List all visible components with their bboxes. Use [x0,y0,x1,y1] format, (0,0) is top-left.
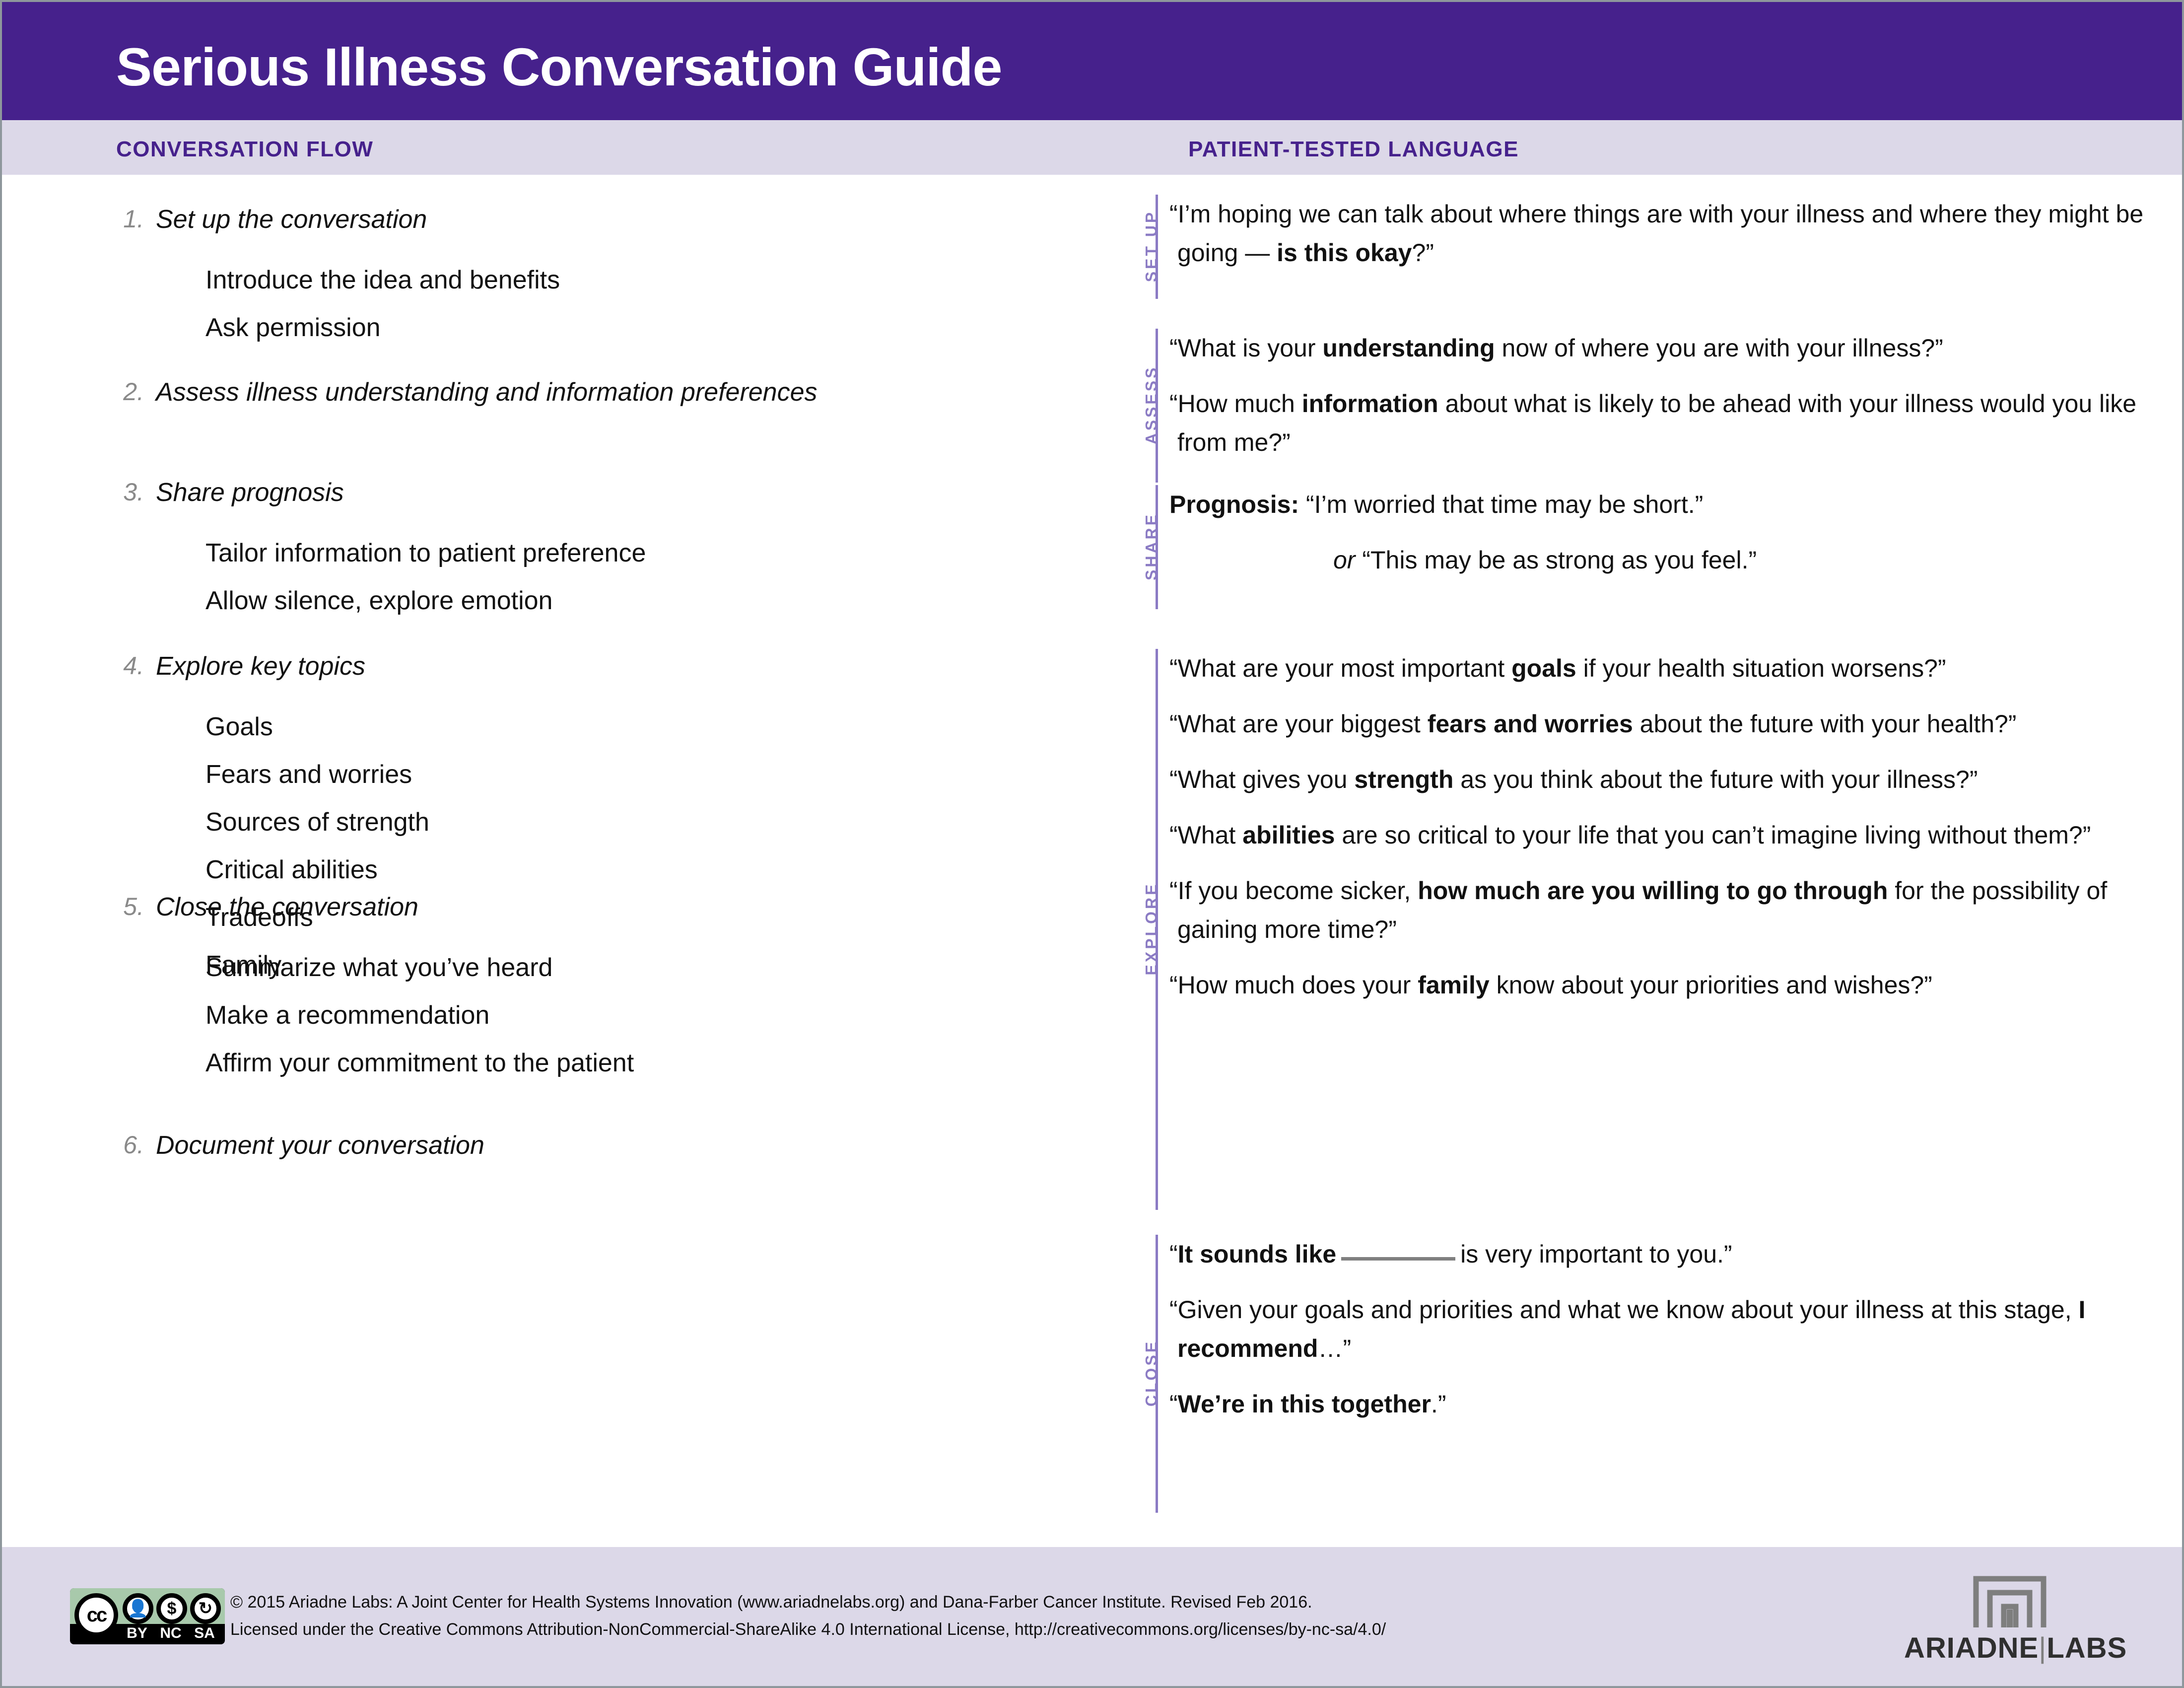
quote-text: ?” [1412,239,1433,267]
quote-text: now of where you are with your illness?” [1495,334,1943,362]
quote-emphasis: fears and worries [1428,710,1633,738]
flow-substep: Summarize what you’ve heard [205,944,634,991]
quote-emphasis: We’re in this together [1178,1390,1431,1418]
group-quotes: Prognosis: “I’m worried that time may be… [1177,485,2156,596]
quote-text: as you think about the future with your … [1453,766,1978,793]
quote-text: are so critical to your life that you ca… [1335,821,2091,849]
quote-emphasis: family [1418,971,1490,999]
language-group: ASSESS“What is your understanding now of… [1114,329,2156,483]
quote-text: “How much does your [1169,971,1418,999]
flow-step-number: 5. [110,892,144,921]
quote-text: “This may be as strong as you feel.” [1355,546,1757,574]
flow-step-title: Set up the conversation [156,205,427,234]
quote-text: “What gives you [1169,766,1354,793]
patient-quote: “We’re in this together.” [1177,1385,2156,1423]
quote-text: know about your priorities and wishes?” [1490,971,1932,999]
cc-abbr-sa: SA [187,1625,222,1642]
flow-substep: Affirm your commitment to the patient [205,1039,634,1087]
flow-step-title: Share prognosis [156,478,344,507]
brand-wordmark: ARIADNE|LABS [1904,1631,2113,1665]
patient-quote: “It sounds likeis very important to you.… [1177,1235,2156,1273]
footer: cc 👤 $ ↻ BY NC SA © 2015 Ariadne Labs: A… [2,1547,2182,1686]
group-side-label: SHARE [1143,497,1161,596]
page-title: Serious Illness Conversation Guide [116,36,1002,98]
column-header-bar: CONVERSATION FLOW PATIENT-TESTED LANGUAG… [2,120,2182,175]
no-money-icon: $ [161,1598,183,1619]
quote-emphasis: how much are you willing to go through [1418,877,1888,905]
quote-emphasis: is this okay [1277,239,1412,267]
quote-text: “How much [1169,390,1302,418]
labyrinth-icon [1970,1573,2049,1627]
conversation-guide-page: Serious Illness Conversation Guide CONVE… [0,0,2184,1688]
flow-step-substeps: Summarize what you’ve heardMake a recomm… [205,944,634,1087]
flow-substep: Fears and worries [205,751,429,798]
flow-substep: Goals [205,703,429,751]
flow-step-number: 1. [110,205,144,233]
column-header-conversation-flow: CONVERSATION FLOW [116,137,373,162]
quote-emphasis: goals [1511,654,1576,682]
quote-text: “I’m worried that time may be short.” [1299,491,1703,518]
group-side-label: SET UP [1143,197,1161,296]
person-icon: 👤 [127,1598,149,1619]
quote-emphasis: understanding [1322,334,1495,362]
quote-text: “ [1169,1240,1178,1268]
quote-emphasis: abilities [1242,821,1335,849]
license-text: © 2015 Ariadne Labs: A Joint Center for … [230,1589,1570,1643]
ariadne-labs-logo: ARIADNE|LABS [1904,1573,2113,1665]
quote-text: if your health situation worsens?” [1576,654,1946,682]
flow-substep: Critical abilities [205,846,429,894]
patient-quote: “What gives you strength as you think ab… [1177,760,2156,799]
patient-quote: “What is your understanding now of where… [1177,329,2156,367]
patient-quote: “Given your goals and priorities and wha… [1177,1290,2156,1368]
group-side-label: ASSESS [1143,355,1161,455]
patient-quote: Prognosis: “I’m worried that time may be… [1177,485,2156,524]
flow-step-substeps: Introduce the idea and benefitsAsk permi… [205,256,560,352]
cc-logo-icon: cc [74,1593,118,1637]
brand-name-labs: LABS [2047,1632,2127,1664]
quote-text: “If you become sicker, [1169,877,1418,905]
patient-quote: “What are your biggest fears and worries… [1177,704,2156,743]
share-alike-icon: ↻ [195,1598,216,1619]
flow-substep: Ask permission [205,304,560,352]
quote-text: “Given your goals and priorities and wha… [1169,1296,2079,1324]
quote-text: “ [1169,1390,1178,1418]
flow-step-number: 4. [110,651,144,680]
creative-commons-badge-icon: cc 👤 $ ↻ BY NC SA [70,1588,225,1644]
flow-step-title: Assess illness understanding and informa… [156,377,818,407]
flow-substep: Sources of strength [205,798,429,846]
quote-text: “What are your biggest [1169,710,1428,738]
quote-text: is very important to you.” [1460,1240,1732,1268]
cc-letters: cc [79,1598,114,1632]
group-quotes: “What is your understanding now of where… [1177,329,2156,479]
column-header-patient-tested-language: PATIENT-TESTED LANGUAGE [1188,137,1519,162]
quote-emphasis: It sounds like [1178,1240,1337,1268]
flow-step-title: Close the conversation [156,892,418,922]
guide-body: 1.Set up the conversationIntroduce the i… [2,175,2182,1551]
cc-abbr-nc: NC [153,1625,188,1642]
flow-step-number: 6. [110,1130,144,1159]
group-quotes: “It sounds likeis very important to you.… [1177,1235,2156,1440]
flow-step-title: Document your conversation [156,1130,484,1160]
title-bar: Serious Illness Conversation Guide [2,2,2182,120]
flow-step-substeps: Tailor information to patient preference… [205,529,646,625]
patient-quote: “What abilities are so critical to your … [1177,816,2156,854]
group-side-label: EXPLORE [1143,879,1161,979]
language-group: EXPLORE“What are your most important goa… [1114,649,2156,1210]
patient-quote: “If you become sicker, how much are you … [1177,871,2156,949]
patient-quote: “How much information about what is like… [1177,384,2156,462]
flow-substep: Make a recommendation [205,991,634,1039]
quote-emphasis: strength [1354,766,1453,793]
quote-text: “What is your [1169,334,1322,362]
patient-tested-language-column: SET UP“I’m hoping we can talk about wher… [1114,175,2182,1551]
quote-emphasis: Prognosis: [1169,491,1299,518]
cc-attribution-icon: 👤 [123,1593,153,1624]
flow-substep: Tailor information to patient preference [205,529,646,577]
fill-in-blank [1341,1240,1455,1261]
cc-abbr-by: BY [120,1625,154,1642]
patient-quote: “What are your most important goals if y… [1177,649,2156,688]
quote-text: “What [1169,821,1242,849]
copyright-line: © 2015 Ariadne Labs: A Joint Center for … [230,1589,1570,1616]
language-group: SET UP“I’m hoping we can talk about wher… [1114,195,2156,299]
patient-quote: or “This may be as strong as you feel.” [1177,541,2156,579]
language-group: SHAREPrognosis: “I’m worried that time m… [1114,485,2156,609]
quote-text: or [1333,546,1355,574]
group-quotes: “What are your most important goals if y… [1177,649,2156,1021]
flow-step-title: Explore key topics [156,651,365,681]
quote-text: .” [1431,1390,1446,1418]
quote-text: …” [1318,1335,1351,1362]
patient-quote: “I’m hoping we can talk about where thin… [1177,195,2156,272]
group-side-label: CLOSE [1143,1324,1161,1423]
conversation-flow-column: 1.Set up the conversationIntroduce the i… [2,175,1114,1551]
quote-text: “What are your most important [1169,654,1511,682]
flow-substep: Introduce the idea and benefits [205,256,560,304]
cc-noncommercial-icon: $ [156,1593,187,1624]
flow-step-number: 3. [110,478,144,506]
license-line: Licensed under the Creative Commons Attr… [230,1616,1570,1643]
language-group: CLOSE“It sounds likeis very important to… [1114,1235,2156,1513]
brand-name-ariadne: ARIADNE [1904,1632,2039,1664]
cc-sharealike-icon: ↻ [190,1593,221,1624]
patient-quote: “How much does your family know about yo… [1177,966,2156,1004]
flow-substep: Allow silence, explore emotion [205,577,646,625]
brand-divider: | [2039,1632,2047,1664]
group-quotes: “I’m hoping we can talk about where thin… [1177,195,2156,289]
flow-step-number: 2. [110,377,144,406]
quote-text: about the future with your health?” [1633,710,2017,738]
quote-emphasis: information [1302,390,1438,418]
